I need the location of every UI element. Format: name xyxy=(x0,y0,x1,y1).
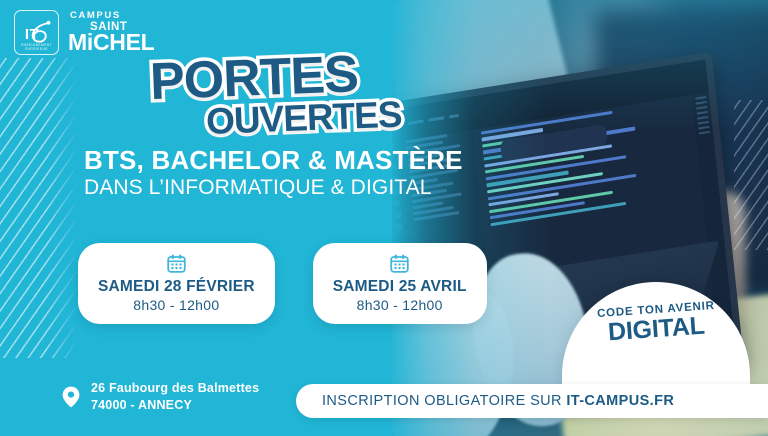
address-lines: 26 Faubourg des Balmettes 74000 - ANNECY xyxy=(91,380,259,414)
registration-prefix: INSCRIPTION OBLIGATOIRE SUR xyxy=(322,393,566,409)
session-card[interactable]: SAMEDI 25 AVRIL 8h30 - 12h00 xyxy=(313,243,487,324)
calendar-icon xyxy=(166,253,187,274)
address-block: 26 Faubourg des Balmettes 74000 - ANNECY xyxy=(62,380,259,414)
it-logo-icon: IT ENSEIGNEMENT SUPERIEUR xyxy=(14,10,59,55)
calendar-icon xyxy=(389,253,410,274)
registration-site[interactable]: IT-CAMPUS.FR xyxy=(566,393,674,409)
michel-label: MiCHEL xyxy=(68,31,154,54)
location-pin-icon xyxy=(62,386,80,408)
session-date: SAMEDI 25 AVRIL xyxy=(333,278,467,296)
session-cards: SAMEDI 28 FÉVRIER 8h30 - 12h00 SAMEDI 25… xyxy=(78,243,487,324)
registration-text: INSCRIPTION OBLIGATOIRE SUR IT-CAMPUS.FR xyxy=(322,393,674,409)
headline-line-2: OUVERTES xyxy=(205,94,470,139)
registration-bar[interactable]: INSCRIPTION OBLIGATOIRE SUR IT-CAMPUS.FR xyxy=(296,384,768,418)
subtitle-block: BTS, BACHELOR & MASTÈRE DANS L’INFORMATI… xyxy=(84,146,463,200)
subtitle-line-2: DANS L’INFORMATIQUE & DIGITAL xyxy=(84,175,463,200)
session-time: 8h30 - 12h00 xyxy=(98,297,255,313)
campus-label: CAMPUS xyxy=(70,11,154,21)
session-time: 8h30 - 12h00 xyxy=(333,297,467,313)
session-card[interactable]: SAMEDI 28 FÉVRIER 8h30 - 12h00 xyxy=(78,243,275,324)
address-line-1: 26 Faubourg des Balmettes xyxy=(91,380,259,397)
it-swoosh-icon xyxy=(30,20,51,44)
address-line-2: 74000 - ANNECY xyxy=(91,397,259,414)
subtitle-line-1: BTS, BACHELOR & MASTÈRE xyxy=(84,146,463,175)
campus-name-block: CAMPUS SAINT MiCHEL xyxy=(68,11,154,54)
poster-canvas: IT ENSEIGNEMENT SUPERIEUR CAMPUS SAINT M… xyxy=(0,0,768,436)
it-logo-tagline: ENSEIGNEMENT SUPERIEUR xyxy=(10,44,64,52)
diagonal-stripes-left xyxy=(0,58,78,358)
slogan-line-2: DIGITAL xyxy=(607,312,706,348)
session-date: SAMEDI 28 FÉVRIER xyxy=(98,278,255,296)
page-title: PORTES OUVERTES xyxy=(150,52,470,135)
brand-logo-lockup: IT ENSEIGNEMENT SUPERIEUR CAMPUS SAINT M… xyxy=(14,10,154,55)
